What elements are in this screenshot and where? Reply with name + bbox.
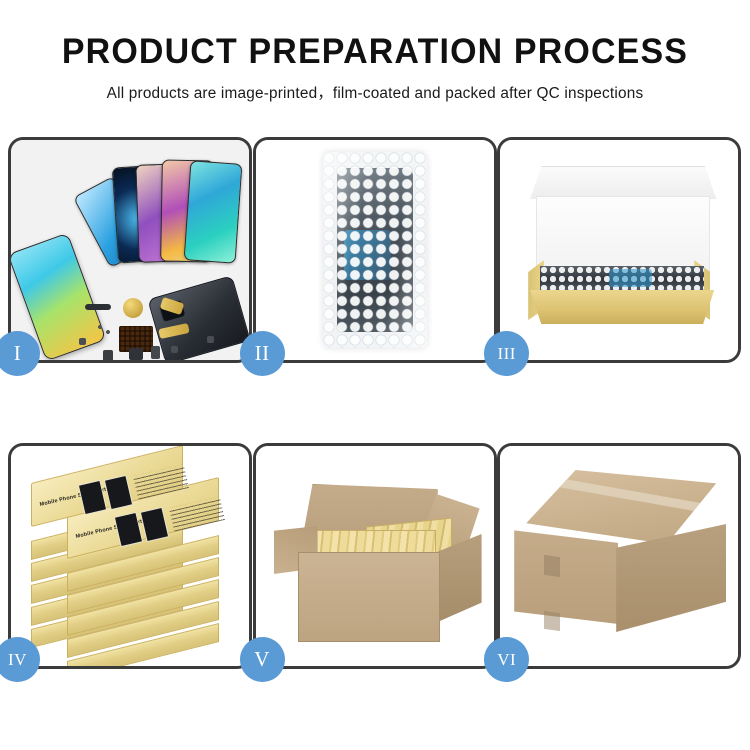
process-step-5: V: [253, 443, 497, 669]
step-5-image: [256, 446, 494, 666]
step-2-image: [256, 140, 494, 360]
small-part-icon: [79, 338, 86, 345]
process-step-3: III: [497, 137, 741, 363]
process-step-2: II: [253, 137, 497, 363]
step-badge-1: I: [0, 331, 40, 376]
page-subtitle: All products are image-printed，film-coat…: [4, 81, 747, 103]
carton-seam-icon: [544, 555, 560, 577]
wrapped-contents-icon: [540, 266, 704, 292]
box-stack: Mobile Phone Spare Parts Mobile Phone Sp…: [23, 460, 243, 660]
page-title: PRODUCT PREPARATION PROCESS: [11, 34, 739, 69]
phone-screen-icon: [184, 160, 243, 263]
small-part-icon: [103, 350, 113, 360]
step-badge-5: V: [240, 637, 285, 682]
carton-front-icon: [514, 520, 618, 624]
plastic-sheen-icon: [323, 152, 427, 348]
carton-seam-icon: [544, 611, 560, 631]
step-badge-3: III: [484, 331, 529, 376]
carton-front-icon: [298, 552, 440, 642]
phone-fan-group: [89, 152, 239, 262]
step-4-image: Mobile Phone Spare Parts Mobile Phone Sp…: [11, 446, 249, 666]
small-part-icon: [207, 336, 214, 343]
bubble-wrap-package: [323, 152, 427, 348]
step-badge-6: VI: [484, 637, 529, 682]
small-part-icon: [151, 346, 160, 359]
step-badge-2: II: [240, 331, 285, 376]
process-step-1: I: [8, 137, 252, 363]
phone-backplate-icon: [147, 275, 249, 360]
speaker-coil-icon: [123, 298, 143, 318]
process-step-6: VI: [497, 443, 741, 669]
sealed-carton: [514, 470, 730, 650]
process-step-grid: I II III: [8, 137, 742, 669]
open-carton: [272, 468, 486, 654]
speaker-part-icon: [85, 304, 111, 310]
process-step-4: Mobile Phone Spare Parts Mobile Phone Sp…: [8, 443, 252, 669]
carton-side-icon: [616, 524, 726, 632]
box-lid-icon: [530, 166, 716, 199]
step-6-image: [500, 446, 738, 666]
small-part-icon: [171, 346, 178, 353]
step-1-image: [11, 140, 249, 360]
box-front-wall-icon: [530, 290, 714, 324]
step-3-image: [500, 140, 738, 360]
screws-icon: [97, 324, 115, 336]
step-badge-4: IV: [0, 637, 40, 682]
page-header: PRODUCT PREPARATION PROCESS All products…: [0, 0, 750, 103]
small-part-icon: [129, 348, 143, 360]
